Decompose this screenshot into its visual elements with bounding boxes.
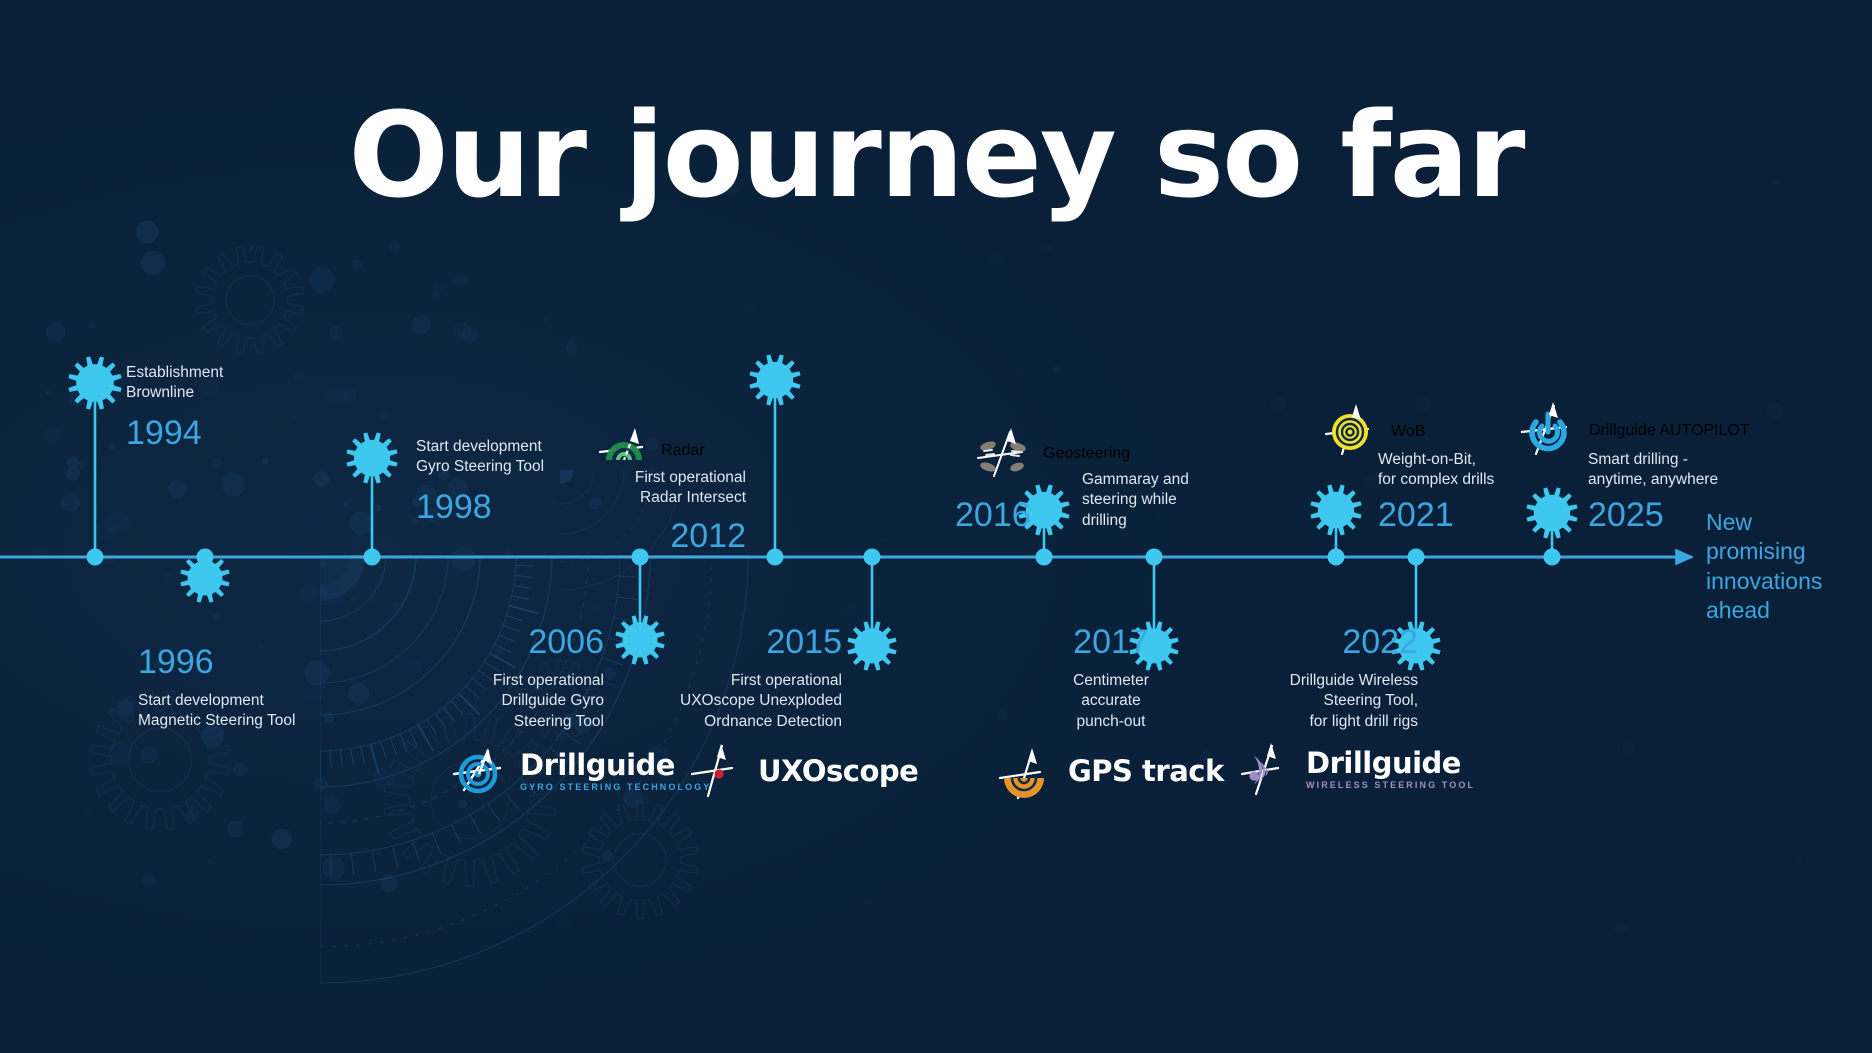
- milestone-2021-year: 2021: [1378, 498, 1478, 534]
- milestone-2025-year: 2025: [1588, 498, 1688, 534]
- uxoscope-icon: [688, 738, 748, 805]
- milestone-2012-desc: First operational Radar Intersect: [600, 468, 746, 509]
- page-title: Our journey so far: [0, 96, 1872, 214]
- milestone-2022-desc: Drillguide Wireless Steering Tool, for l…: [1228, 671, 1418, 732]
- brand-uxoscope[interactable]: UXOscope: [688, 738, 918, 805]
- timeline-node-dot-1996[interactable]: [197, 549, 214, 566]
- timeline-node-dot-2022[interactable]: [1408, 549, 1425, 566]
- milestone-2025-year-wrap[interactable]: 2025: [1588, 498, 1688, 534]
- timeline-node-dot-2025[interactable]: [1544, 549, 1561, 566]
- timeline-gear-2021[interactable]: [1310, 484, 1361, 535]
- drillguide-gyro-icon: [448, 738, 510, 805]
- timeline-gear-1996[interactable]: [180, 553, 229, 602]
- timeline-node-dot-1994[interactable]: [87, 549, 104, 566]
- brand-tagline: AUTOPILOT: [1659, 422, 1749, 439]
- drillguide-autopilot-icon: [1518, 396, 1580, 465]
- milestone-1994[interactable]: Establishment Brownline 1994: [126, 363, 356, 452]
- brand-name: Drillguide: [1589, 422, 1656, 439]
- milestone-2006[interactable]: 2006 First operational Drillguide Gyro S…: [380, 625, 604, 732]
- milestone-2016-desc: Gammaray and steering while drilling: [1082, 470, 1242, 531]
- milestone-2016-text[interactable]: Gammaray and steering while drilling: [1082, 470, 1242, 531]
- timeline-node-dot-2016[interactable]: [1036, 549, 1053, 566]
- brand-drillguide-wireless[interactable]: Drillguide WIRELESS STEERING TOOL: [1238, 736, 1475, 803]
- milestone-2025-desc: Smart drilling - anytime, anywhere: [1588, 450, 1808, 491]
- timeline-gear-2012[interactable]: [749, 354, 800, 405]
- milestone-2022-year: 2022: [1228, 625, 1418, 661]
- milestone-2015-desc: First operational UXOscope Unexploded Or…: [660, 671, 842, 732]
- milestone-2021-year-wrap[interactable]: 2021: [1378, 498, 1478, 534]
- brand-name: Radar: [661, 442, 705, 459]
- milestone-2006-year: 2006: [380, 625, 604, 661]
- timeline-gear-2025[interactable]: [1526, 487, 1577, 538]
- brand-name: Geosteering: [1043, 445, 1130, 462]
- milestone-1996-year: 1996: [138, 645, 398, 681]
- timeline-node-dot-2017[interactable]: [1146, 549, 1163, 566]
- timeline-gear-2006[interactable]: [615, 615, 664, 664]
- milestone-1996[interactable]: 1996 Start development Magnetic Steering…: [138, 645, 398, 732]
- milestone-2017[interactable]: 2017 Centimeter accurate punch-out: [1030, 625, 1192, 732]
- milestone-2022[interactable]: 2022 Drillguide Wireless Steering Tool, …: [1228, 625, 1418, 732]
- milestone-2006-desc: First operational Drillguide Gyro Steeri…: [380, 671, 604, 732]
- milestone-2012-year: 2012: [600, 519, 746, 555]
- wob-icon: [1322, 398, 1382, 465]
- timeline-node-dot-2021[interactable]: [1328, 549, 1345, 566]
- drillguide-wireless-icon: [1238, 736, 1296, 803]
- infographic-canvas: Our journey so far Establishment Brownli…: [0, 0, 1872, 1053]
- milestone-2016-year: 2016: [955, 498, 1045, 534]
- brand-drillguide-gyro[interactable]: Drillguide GYRO STEERING TECHNOLOGY: [448, 738, 711, 805]
- timeline-gear-2015[interactable]: [847, 621, 896, 670]
- milestone-1994-desc: Establishment Brownline: [126, 363, 356, 404]
- milestone-2015-year: 2015: [660, 625, 842, 661]
- brand-name: UXOscope: [758, 757, 918, 786]
- brand-gps-track[interactable]: GPS track: [996, 738, 1224, 805]
- milestone-2025-text[interactable]: Smart drilling - anytime, anywhere: [1588, 450, 1808, 491]
- timeline-node-dot-2015[interactable]: [864, 549, 881, 566]
- milestone-1994-year: 1994: [126, 416, 356, 452]
- geosteering-icon: [972, 420, 1034, 487]
- brand-name: WoB: [1391, 423, 1425, 440]
- timeline-node-dot-2012[interactable]: [767, 549, 784, 566]
- timeline-end-label: New promising innovations ahead: [1706, 508, 1866, 626]
- milestone-2017-desc: Centimeter accurate punch-out: [1030, 671, 1192, 732]
- timeline-gear-1994[interactable]: [68, 356, 121, 409]
- brand-tagline: WIRELESS STEERING TOOL: [1306, 781, 1475, 790]
- brand-name: Drillguide: [520, 751, 711, 780]
- brand-name: GPS track: [1068, 757, 1224, 786]
- milestone-2016-year-wrap[interactable]: 2016: [955, 498, 1045, 534]
- brand-tagline: GYRO STEERING TECHNOLOGY: [520, 783, 711, 792]
- milestone-2017-year: 2017: [1030, 625, 1192, 661]
- brand-name: Drillguide: [1306, 749, 1475, 778]
- milestone-2015[interactable]: 2015 First operational UXOscope Unexplod…: [660, 625, 842, 732]
- milestone-2012-text[interactable]: First operational Radar Intersect 2012: [600, 468, 746, 555]
- gps-track-icon: [996, 738, 1058, 805]
- timeline-node-dot-1998[interactable]: [364, 549, 381, 566]
- milestone-1996-desc: Start development Magnetic Steering Tool: [138, 691, 398, 732]
